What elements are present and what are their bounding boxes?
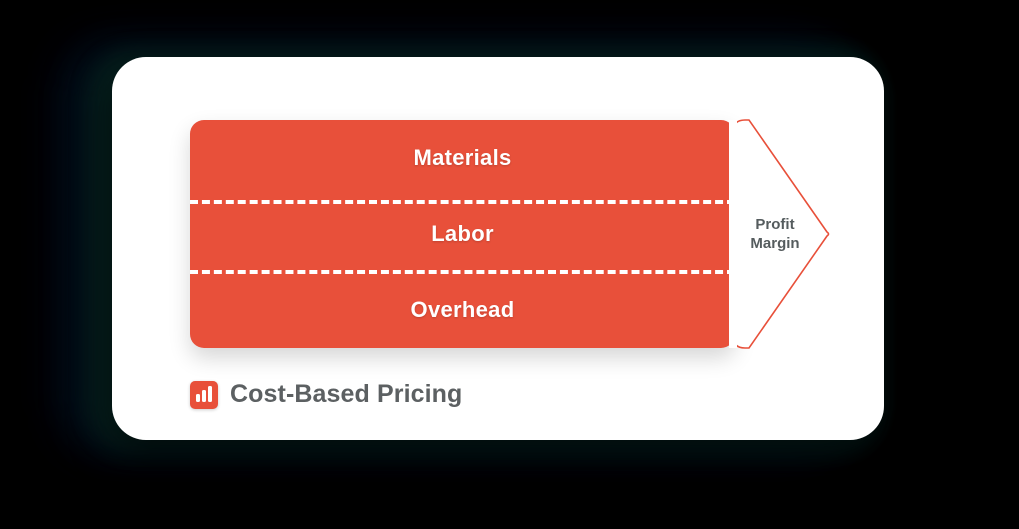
cost-segment-overhead[interactable]: Overhead [190,272,735,348]
bar-chart-icon-bar-2 [202,390,206,402]
bar-chart-icon-bar-1 [196,394,200,402]
cost-segment-materials[interactable]: Materials [190,120,735,196]
cost-segment-label: Labor [431,221,494,247]
canvas: Materials Labor Overhead Profit [0,0,1019,529]
segment-divider-1 [190,200,735,204]
cost-segment-label: Overhead [411,297,515,323]
cost-stack: Materials Labor Overhead [190,120,735,348]
caption-title: Cost-Based Pricing [230,380,462,409]
caption: Cost-Based Pricing [190,380,462,409]
bar-chart-icon-bar-3 [208,386,212,402]
profit-margin-label-line1: Profit [736,216,814,235]
bar-chart-icon [190,381,218,409]
profit-margin-label-line2: Margin [736,235,814,254]
profit-margin-label: Profit Margin [736,216,814,254]
cost-segment-label: Materials [413,145,511,171]
pricing-card: Materials Labor Overhead Profit [112,57,884,440]
cost-based-pricing-diagram: Materials Labor Overhead Profit [190,120,910,348]
segment-divider-2 [190,270,735,274]
cost-segment-labor[interactable]: Labor [190,196,735,272]
